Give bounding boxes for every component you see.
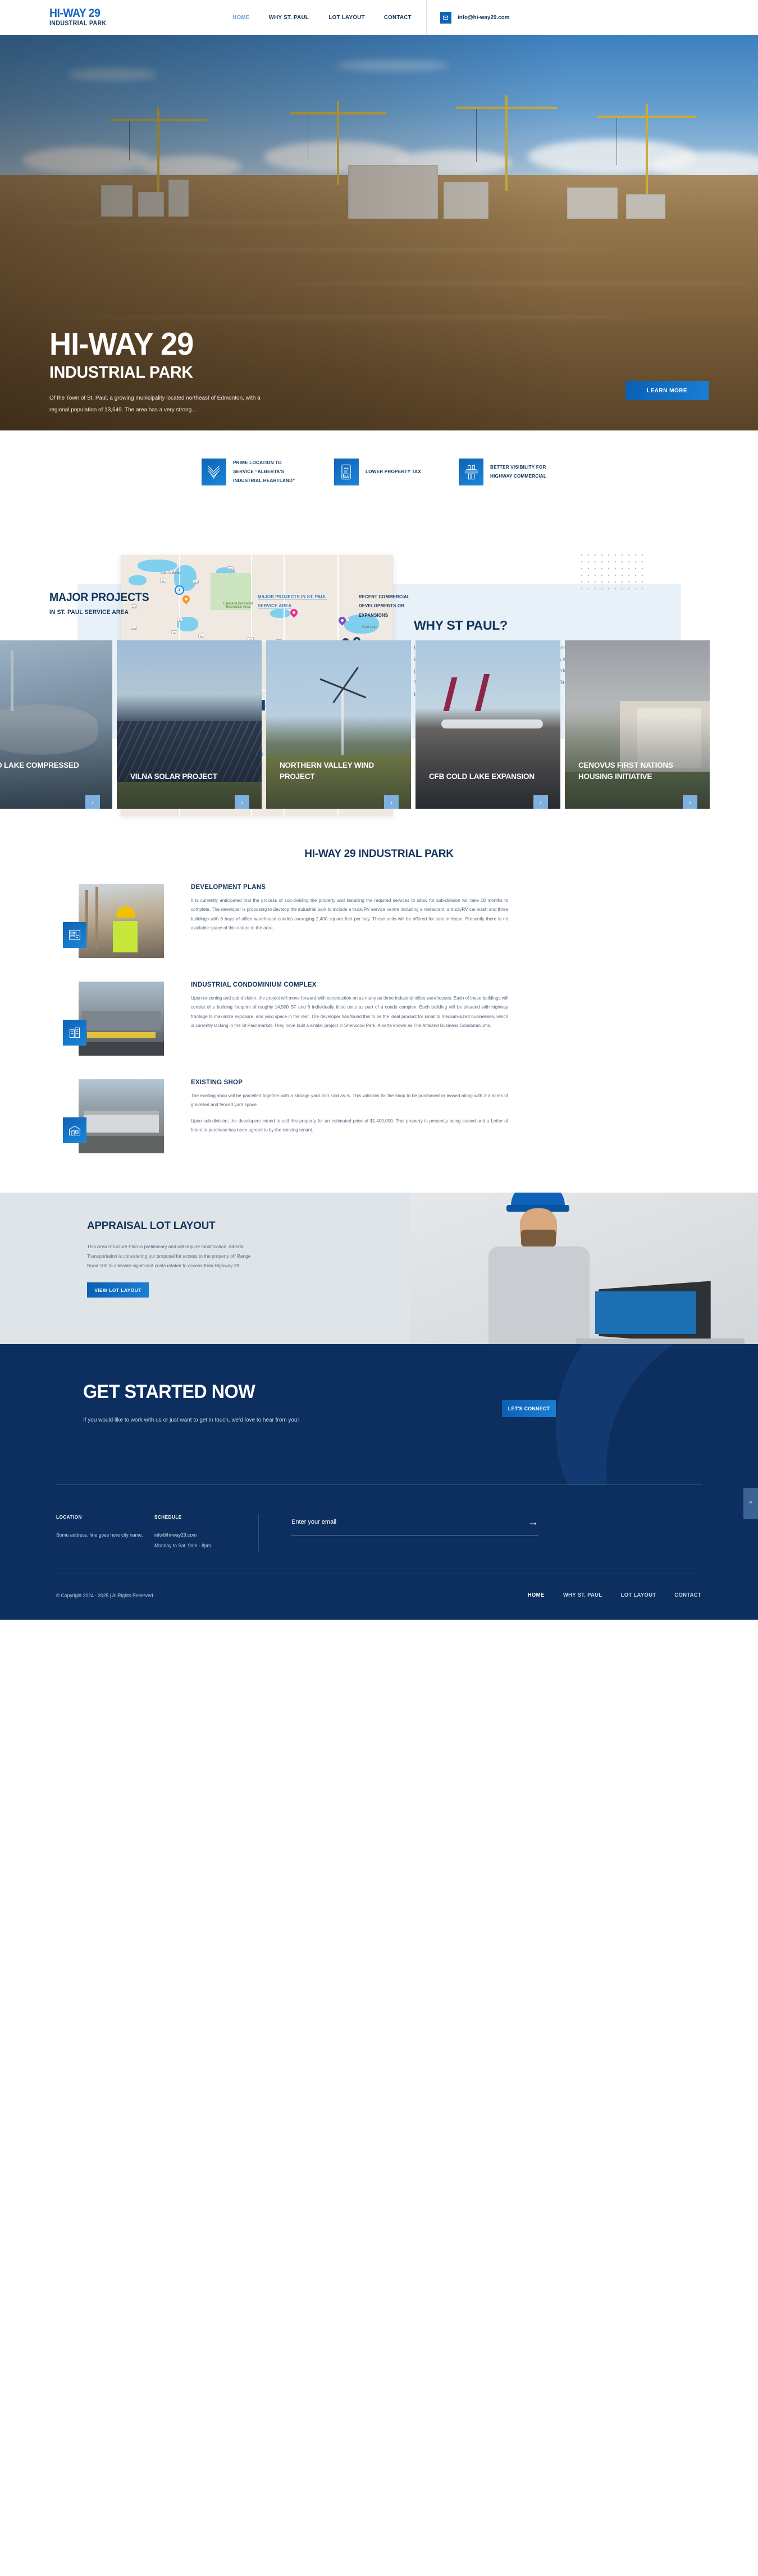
footer-column-heading: LOCATION	[56, 1514, 149, 1520]
footer-nav-why-st-paul[interactable]: WHY ST. PAUL	[563, 1592, 602, 1598]
park-block-existing-shop: EXISTING SHOP The existing shop will be …	[0, 1079, 758, 1153]
feature-item-prime-location: PRIME LOCATION TO SERVICE “ALBERTA’S IND…	[202, 459, 299, 485]
highway-overpass-icon	[459, 459, 483, 485]
arrow-right-icon[interactable]: →	[528, 1517, 538, 1528]
chevron-right-icon[interactable]: ›	[683, 795, 697, 809]
tab-recent-developments[interactable]: RECENT COMMERCIAL DEVELOPMENTS OR EXPANS…	[347, 593, 428, 620]
appraisal-section: APPRAISAL LOT LAYOUT This Area Structure…	[0, 1193, 758, 1344]
nav-item-contact[interactable]: CONTACT	[384, 2, 412, 33]
site-logo[interactable]: HI-WAY 29 INDUSTRIAL PARK	[49, 7, 111, 27]
site-footer: LOCATION Some address, line goes here ci…	[0, 1484, 758, 1620]
hero-content: HI-WAY 29 INDUSTRIAL PARK Of the Town of…	[49, 329, 409, 416]
footer-nav-lot-layout[interactable]: LOT LAYOUT	[620, 1592, 656, 1598]
logo-primary-text: HI-WAY 29	[49, 7, 107, 19]
newsletter-block: →	[291, 1514, 538, 1551]
nav-item-lot-layout[interactable]: LOT LAYOUT	[328, 2, 364, 33]
project-card[interactable]: CFB COLD LAKE EXPANSION ›	[415, 640, 560, 809]
park-block-title: DEVELOPMENT PLANS	[191, 884, 508, 891]
appraisal-paragraph: This Area Structure Plan is preliminary …	[87, 1242, 261, 1270]
project-card[interactable]: CENOVUS FIRST NATIONS HOUSING INITIATIVE…	[565, 640, 710, 809]
appraisal-photo-engineer	[410, 1193, 758, 1344]
footer-divider	[258, 1514, 259, 1551]
footer-bottom: © Copyright 2024 - 2025 | AllRights Rese…	[0, 1574, 758, 1619]
park-block-development-plans: DEVELOPMENT PLANS It is currently antici…	[0, 884, 758, 958]
footer-column-text: info@hi-way29.com Monday to Sat: 9am - 8…	[154, 1530, 248, 1551]
footer-nav: HOME WHY ST. PAUL LOT LAYOUT CONTACT	[527, 1592, 702, 1598]
park-block-industrial-condominium: INDUSTRIAL CONDOMINIUM COMPLEX Upon re-z…	[0, 982, 758, 1056]
heartland-logo-icon	[202, 459, 226, 485]
feature-item-highway-visibility: BETTER VISIBILITY FOR HIGHWAY COMMERCIAL	[459, 459, 556, 485]
nav-item-why-st-paul[interactable]: WHY ST. PAUL	[269, 2, 309, 33]
why-st-paul-section: 663 55 663 855 36 858 36 55 55 55 55 897…	[0, 511, 758, 581]
get-started-section: GET STARTED NOW If you would like to wor…	[0, 1344, 758, 1484]
footer-main: LOCATION Some address, line goes here ci…	[0, 1485, 758, 1574]
feature-label: PRIME LOCATION TO SERVICE “ALBERTA’S IND…	[233, 459, 296, 485]
header-divider	[426, 0, 427, 35]
map-place-label: Cold Lake	[362, 626, 377, 629]
view-lot-layout-button[interactable]: VIEW LOT LAYOUT	[87, 1282, 149, 1298]
park-photo-condo-complex	[79, 982, 164, 1056]
logo-secondary-text: INDUSTRIAL PARK	[49, 21, 107, 27]
park-image-wrapper	[79, 884, 164, 958]
park-text-block: EXISTING SHOP The existing shop will be …	[191, 1079, 508, 1135]
header-email-text: info@hi-way29.com	[458, 14, 509, 21]
card-overlay	[117, 640, 262, 809]
park-block-paragraph: Upon re-zoning and sub-division, the pro…	[191, 994, 508, 1030]
hero-paragraph: Of the Town of St. Paul, a growing munic…	[49, 392, 279, 416]
warehouse-icon	[63, 1117, 86, 1143]
project-card[interactable]: COLD LAKE COMPRESSED AIR ›	[0, 640, 112, 809]
card-overlay	[565, 640, 710, 809]
card-overlay	[266, 640, 411, 809]
chevron-right-icon[interactable]: ›	[533, 795, 548, 809]
buildings-icon	[63, 1020, 86, 1046]
cta-paragraph: If you would like to work with us or jus…	[83, 1414, 299, 1426]
projects-heading: MAJOR PROJECTS	[49, 591, 149, 604]
feature-label: LOWER PROPERTY TAX	[366, 467, 421, 476]
cta-heading: GET STARTED NOW	[83, 1381, 299, 1403]
project-card[interactable]: VILNA SOLAR PROJECT ›	[117, 640, 262, 809]
feature-item-lower-tax: TAX LOWER PROPERTY TAX	[334, 459, 424, 485]
chevron-right-icon[interactable]: ›	[384, 795, 399, 809]
card-title: NORTHERN VALLEY WIND PROJECT	[280, 760, 392, 782]
chevron-right-icon[interactable]: ›	[85, 795, 100, 809]
why-heading: WHY ST PAUL?	[414, 618, 638, 633]
hero-section: HI-WAY 29 INDUSTRIAL PARK Of the Town of…	[0, 35, 758, 430]
newsletter-underline	[291, 1535, 538, 1536]
primary-nav: HOME WHY ST. PAUL LOT LAYOUT CONTACT	[232, 2, 412, 33]
footer-nav-home[interactable]: HOME	[528, 1592, 545, 1598]
chevron-up-icon[interactable]: ^	[743, 1488, 758, 1519]
feature-strip: PRIME LOCATION TO SERVICE “ALBERTA’S IND…	[0, 430, 758, 511]
card-title: VILNA SOLAR PROJECT	[130, 771, 243, 782]
dot-pattern-decoration	[578, 552, 646, 592]
map-cluster-count: 2	[179, 589, 180, 592]
email-subscribe-input[interactable]	[291, 1516, 528, 1528]
footer-column-schedule: SCHEDULE info@hi-way29.com Monday to Sat…	[154, 1514, 253, 1551]
projects-subheading: IN ST. PAUL SERVICE AREA	[49, 609, 149, 616]
hero-title-line1: HI-WAY 29	[49, 329, 391, 359]
park-block-paragraph: The existing shop will be parcelled toge…	[191, 1092, 508, 1110]
map-cluster-marker[interactable]: 2	[175, 585, 184, 595]
park-text-block: DEVELOPMENT PLANS It is currently antici…	[191, 884, 508, 933]
svg-text:TAX: TAX	[344, 474, 349, 477]
card-title: COLD LAKE COMPRESSED AIR	[0, 760, 93, 782]
footer-column-location: LOCATION Some address, line goes here ci…	[56, 1514, 154, 1551]
tab-major-projects[interactable]: MAJOR PROJECTS IN ST. PAUL SERVICE AREA	[258, 593, 339, 620]
card-overlay	[415, 640, 560, 809]
park-photo-construction-worker	[79, 884, 164, 958]
footer-nav-contact[interactable]: CONTACT	[674, 1592, 701, 1598]
card-title: CENOVUS FIRST NATIONS HOUSING INITIATIVE	[578, 760, 691, 782]
footer-column-heading: SCHEDULE	[154, 1514, 248, 1520]
lets-connect-button[interactable]: LET'S CONNECT	[502, 1400, 556, 1417]
header-email-block[interactable]: info@hi-way29.com	[440, 12, 511, 24]
park-block-title: INDUSTRIAL CONDOMINIUM COMPLEX	[191, 982, 508, 988]
tax-document-icon: TAX	[334, 459, 359, 485]
envelope-icon	[440, 12, 451, 24]
hero-title-line2: INDUSTRIAL PARK	[49, 363, 391, 382]
park-image-wrapper	[79, 982, 164, 1056]
park-heading: HI-WAY 29 INDUSTRIAL PARK	[0, 848, 758, 860]
map-place-label: Lac La Biche	[161, 572, 181, 575]
appraisal-heading: APPRAISAL LOT LAYOUT	[87, 1220, 261, 1233]
copyright-text: © Copyright 2024 - 2025 | AllRights Rese…	[56, 1593, 153, 1598]
chevron-right-icon[interactable]: ›	[235, 795, 249, 809]
footer-column-text: Some address, line goes here city name.	[56, 1530, 149, 1541]
park-photo-warehouse	[79, 1079, 164, 1153]
feature-label: BETTER VISIBILITY FOR HIGHWAY COMMERCIAL	[490, 463, 553, 481]
park-block-paragraph: It is currently anticipated that the pro…	[191, 896, 508, 933]
park-block-title: EXISTING SHOP	[191, 1079, 508, 1086]
cta-text-block: GET STARTED NOW If you would like to wor…	[83, 1381, 310, 1426]
project-card[interactable]: NORTHERN VALLEY WIND PROJECT ›	[266, 640, 411, 809]
card-title: CFB COLD LAKE EXPANSION	[429, 771, 541, 782]
park-block-paragraph: Upon sub-division, the developers intend…	[191, 1117, 508, 1135]
park-text-block: INDUSTRIAL CONDOMINIUM COMPLEX Upon re-z…	[191, 982, 508, 1030]
learn-more-button[interactable]: LEARN MORE	[625, 381, 709, 400]
projects-titles: MAJOR PROJECTS IN ST. PAUL SERVICE AREA	[49, 591, 157, 616]
map-place-label: Lakeland Provincial Recreation Area	[223, 602, 253, 609]
park-image-wrapper	[79, 1079, 164, 1153]
nav-item-home[interactable]: HOME	[233, 2, 250, 33]
site-header: HI-WAY 29 INDUSTRIAL PARK HOME WHY ST. P…	[0, 0, 758, 35]
card-overlay	[0, 640, 112, 809]
blueprint-icon	[63, 922, 86, 948]
industrial-park-section: HI-WAY 29 INDUSTRIAL PARK	[0, 809, 758, 1153]
appraisal-text-block: APPRAISAL LOT LAYOUT This Area Structure…	[87, 1220, 261, 1298]
map-pin[interactable]	[181, 594, 191, 604]
page-root: HI-WAY 29 INDUSTRIAL PARK HOME WHY ST. P…	[0, 0, 758, 1620]
newsletter-row: →	[291, 1516, 538, 1528]
